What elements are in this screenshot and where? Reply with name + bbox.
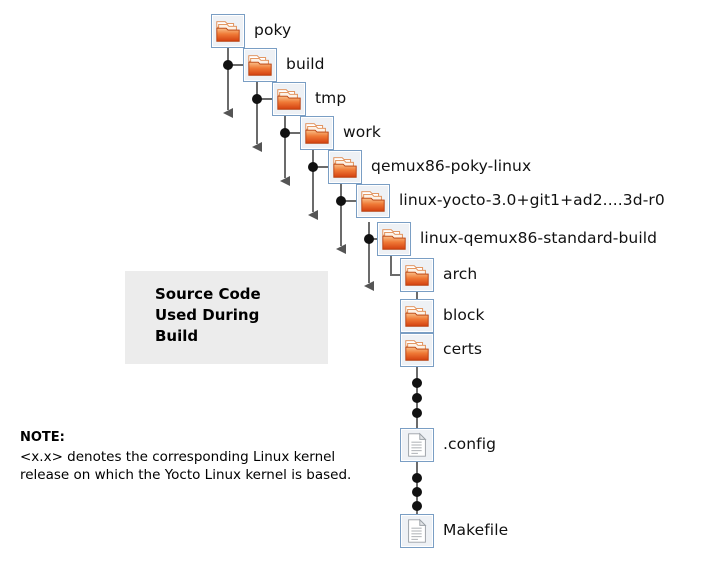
note-body: <x.x> denotes the corresponding Linux ke…	[20, 448, 380, 484]
tree-node-tmp[interactable]: tmp	[272, 82, 346, 116]
folder-icon	[243, 48, 277, 82]
tree-node-label: poky	[254, 23, 291, 39]
tree-node-label: block	[443, 308, 485, 324]
tree-node-label: qemux86-poky-linux	[371, 159, 531, 175]
tree-node-qemux86-poky-linux[interactable]: qemux86-poky-linux	[328, 150, 531, 184]
directory-tree-diagram: poky build tmp	[0, 0, 705, 581]
folder-icon	[211, 14, 245, 48]
tree-node-work[interactable]: work	[300, 116, 381, 150]
tree-node-label: certs	[443, 342, 482, 358]
folder-icon	[328, 150, 362, 184]
folder-icon	[356, 184, 390, 218]
tree-node-certs[interactable]: certs	[400, 333, 482, 367]
tree-node-label: Makefile	[443, 523, 508, 539]
folder-icon	[400, 299, 434, 333]
tree-node-block[interactable]: block	[400, 299, 485, 333]
tree-node-makefile[interactable]: Makefile	[400, 514, 508, 548]
tree-node-linux-qemux86-standard-build[interactable]: linux-qemux86-standard-build	[377, 222, 657, 256]
tree-node-label: arch	[443, 267, 477, 283]
document-icon	[400, 428, 434, 462]
note-block: NOTE: <x.x> denotes the corresponding Li…	[20, 430, 380, 484]
tree-node-label: build	[286, 57, 325, 73]
tree-node-label: .config	[443, 437, 496, 453]
folder-icon	[300, 116, 334, 150]
folder-icon	[400, 333, 434, 367]
tree-node-linux-yocto[interactable]: linux-yocto-3.0+git1+ad2....3d-r0	[356, 184, 665, 218]
callout-label: Source Code Used During Build	[155, 284, 261, 347]
folder-icon	[400, 258, 434, 292]
tree-node-poky[interactable]: poky	[211, 14, 291, 48]
tree-node-label: linux-qemux86-standard-build	[420, 231, 657, 247]
note-title: NOTE:	[20, 430, 380, 446]
document-icon	[400, 514, 434, 548]
tree-node-label: linux-yocto-3.0+git1+ad2....3d-r0	[399, 193, 665, 209]
folder-icon	[377, 222, 411, 256]
folder-icon	[272, 82, 306, 116]
tree-node-label: tmp	[315, 91, 346, 107]
connector-lines	[0, 0, 705, 581]
tree-node-arch[interactable]: arch	[400, 258, 477, 292]
tree-node-label: work	[343, 125, 381, 141]
source-code-callout: Source Code Used During Build	[125, 271, 328, 364]
tree-node-config-file[interactable]: .config	[400, 428, 496, 462]
tree-node-build[interactable]: build	[243, 48, 325, 82]
